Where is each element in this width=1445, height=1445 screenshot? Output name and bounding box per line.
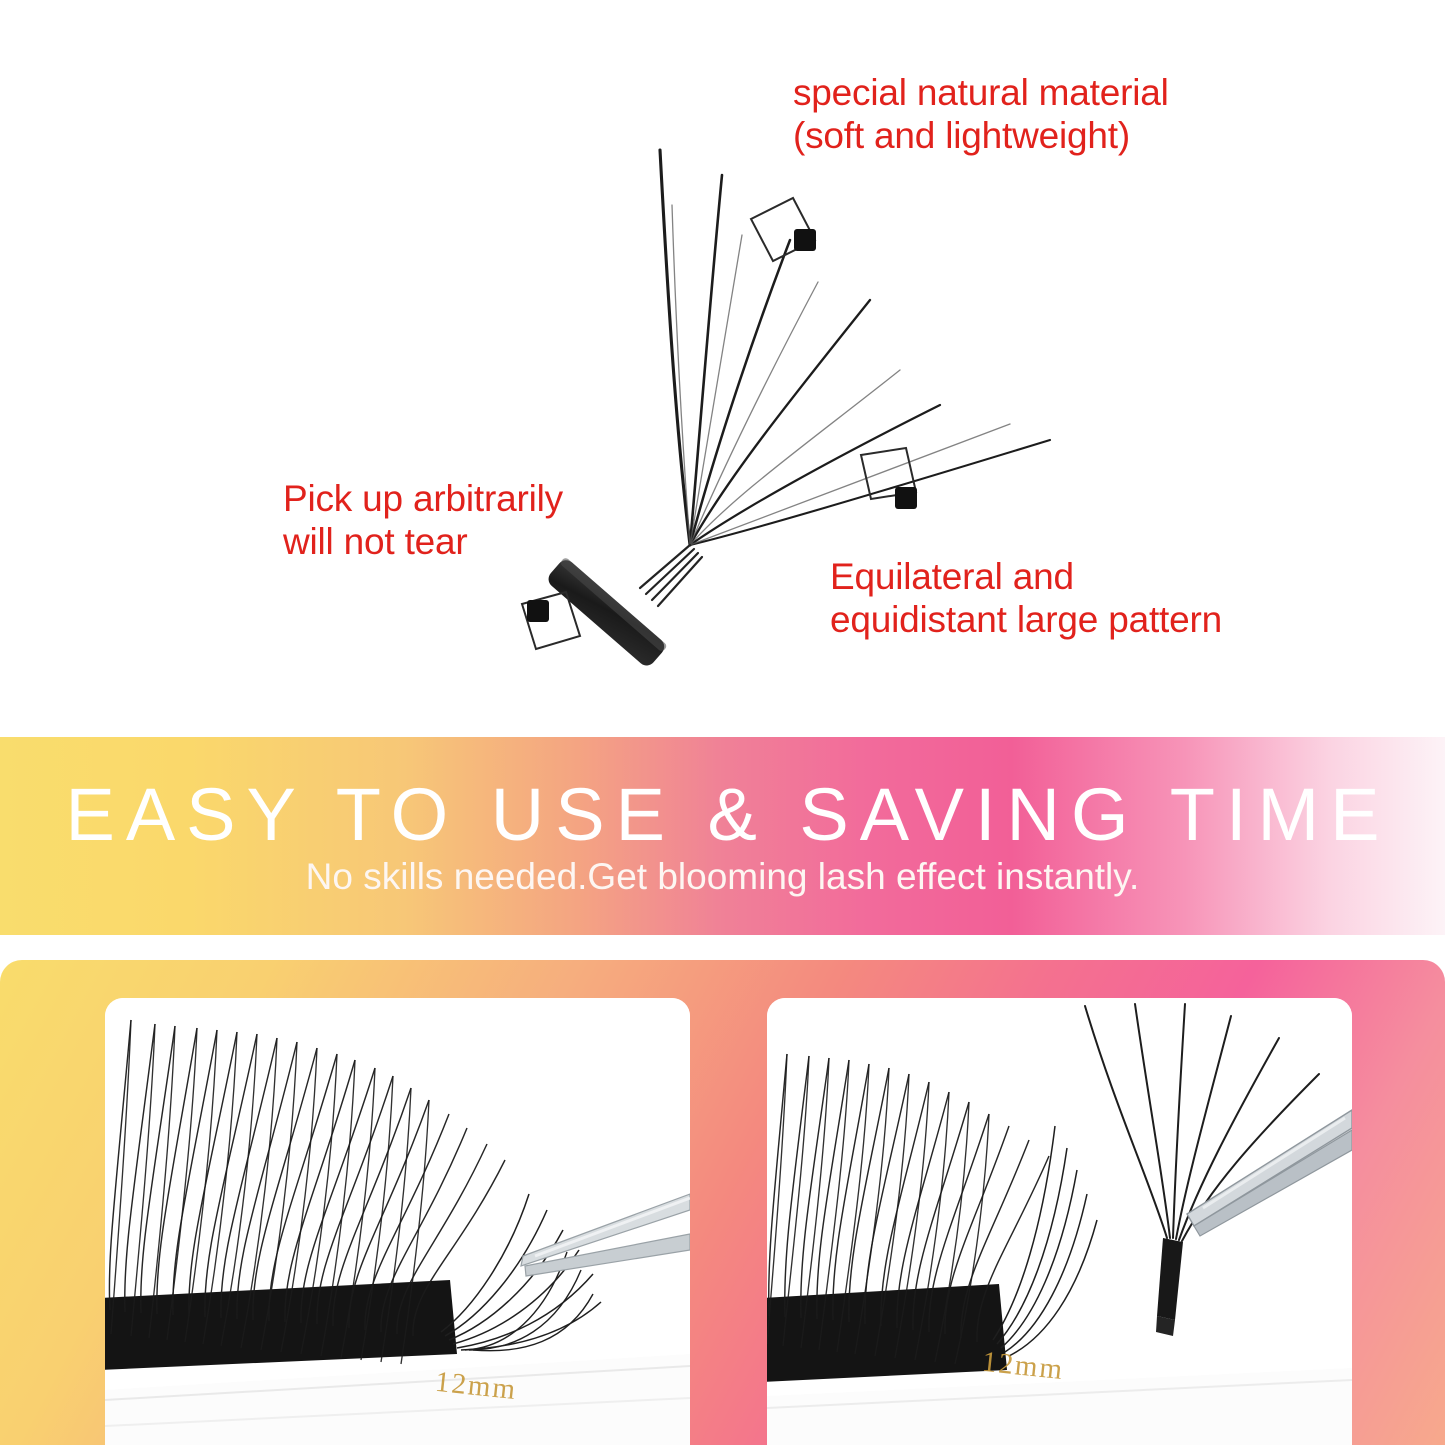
banner-subheadline: No skills needed.Get blooming lash effec… [306,858,1140,895]
easy-to-use-banner: EASY TO USE & SAVING TIME No skills need… [0,737,1445,935]
callout-pick-up-arbitrarily: Pick up arbitrarily will not tear [283,478,623,564]
photo-card-lash-fan-pickup: 12mm [767,998,1352,1445]
callout-special-natural-material: special natural material (soft and light… [793,72,1263,158]
product-marketing-page: special natural material (soft and light… [0,0,1445,1445]
product-photo-panel: 12mm [0,960,1445,1445]
marker-square-middle [861,448,917,509]
marker-square-top [751,198,816,261]
callout-equilateral-equidistant: Equilateral and equidistant large patter… [830,556,1290,642]
banner-headline: EASY TO USE & SAVING TIME [54,778,1390,852]
lash-diagram-section: special natural material (soft and light… [0,0,1445,718]
photo-card-lash-tray: 12mm [105,998,690,1445]
lash-tray-photo [105,998,690,1445]
